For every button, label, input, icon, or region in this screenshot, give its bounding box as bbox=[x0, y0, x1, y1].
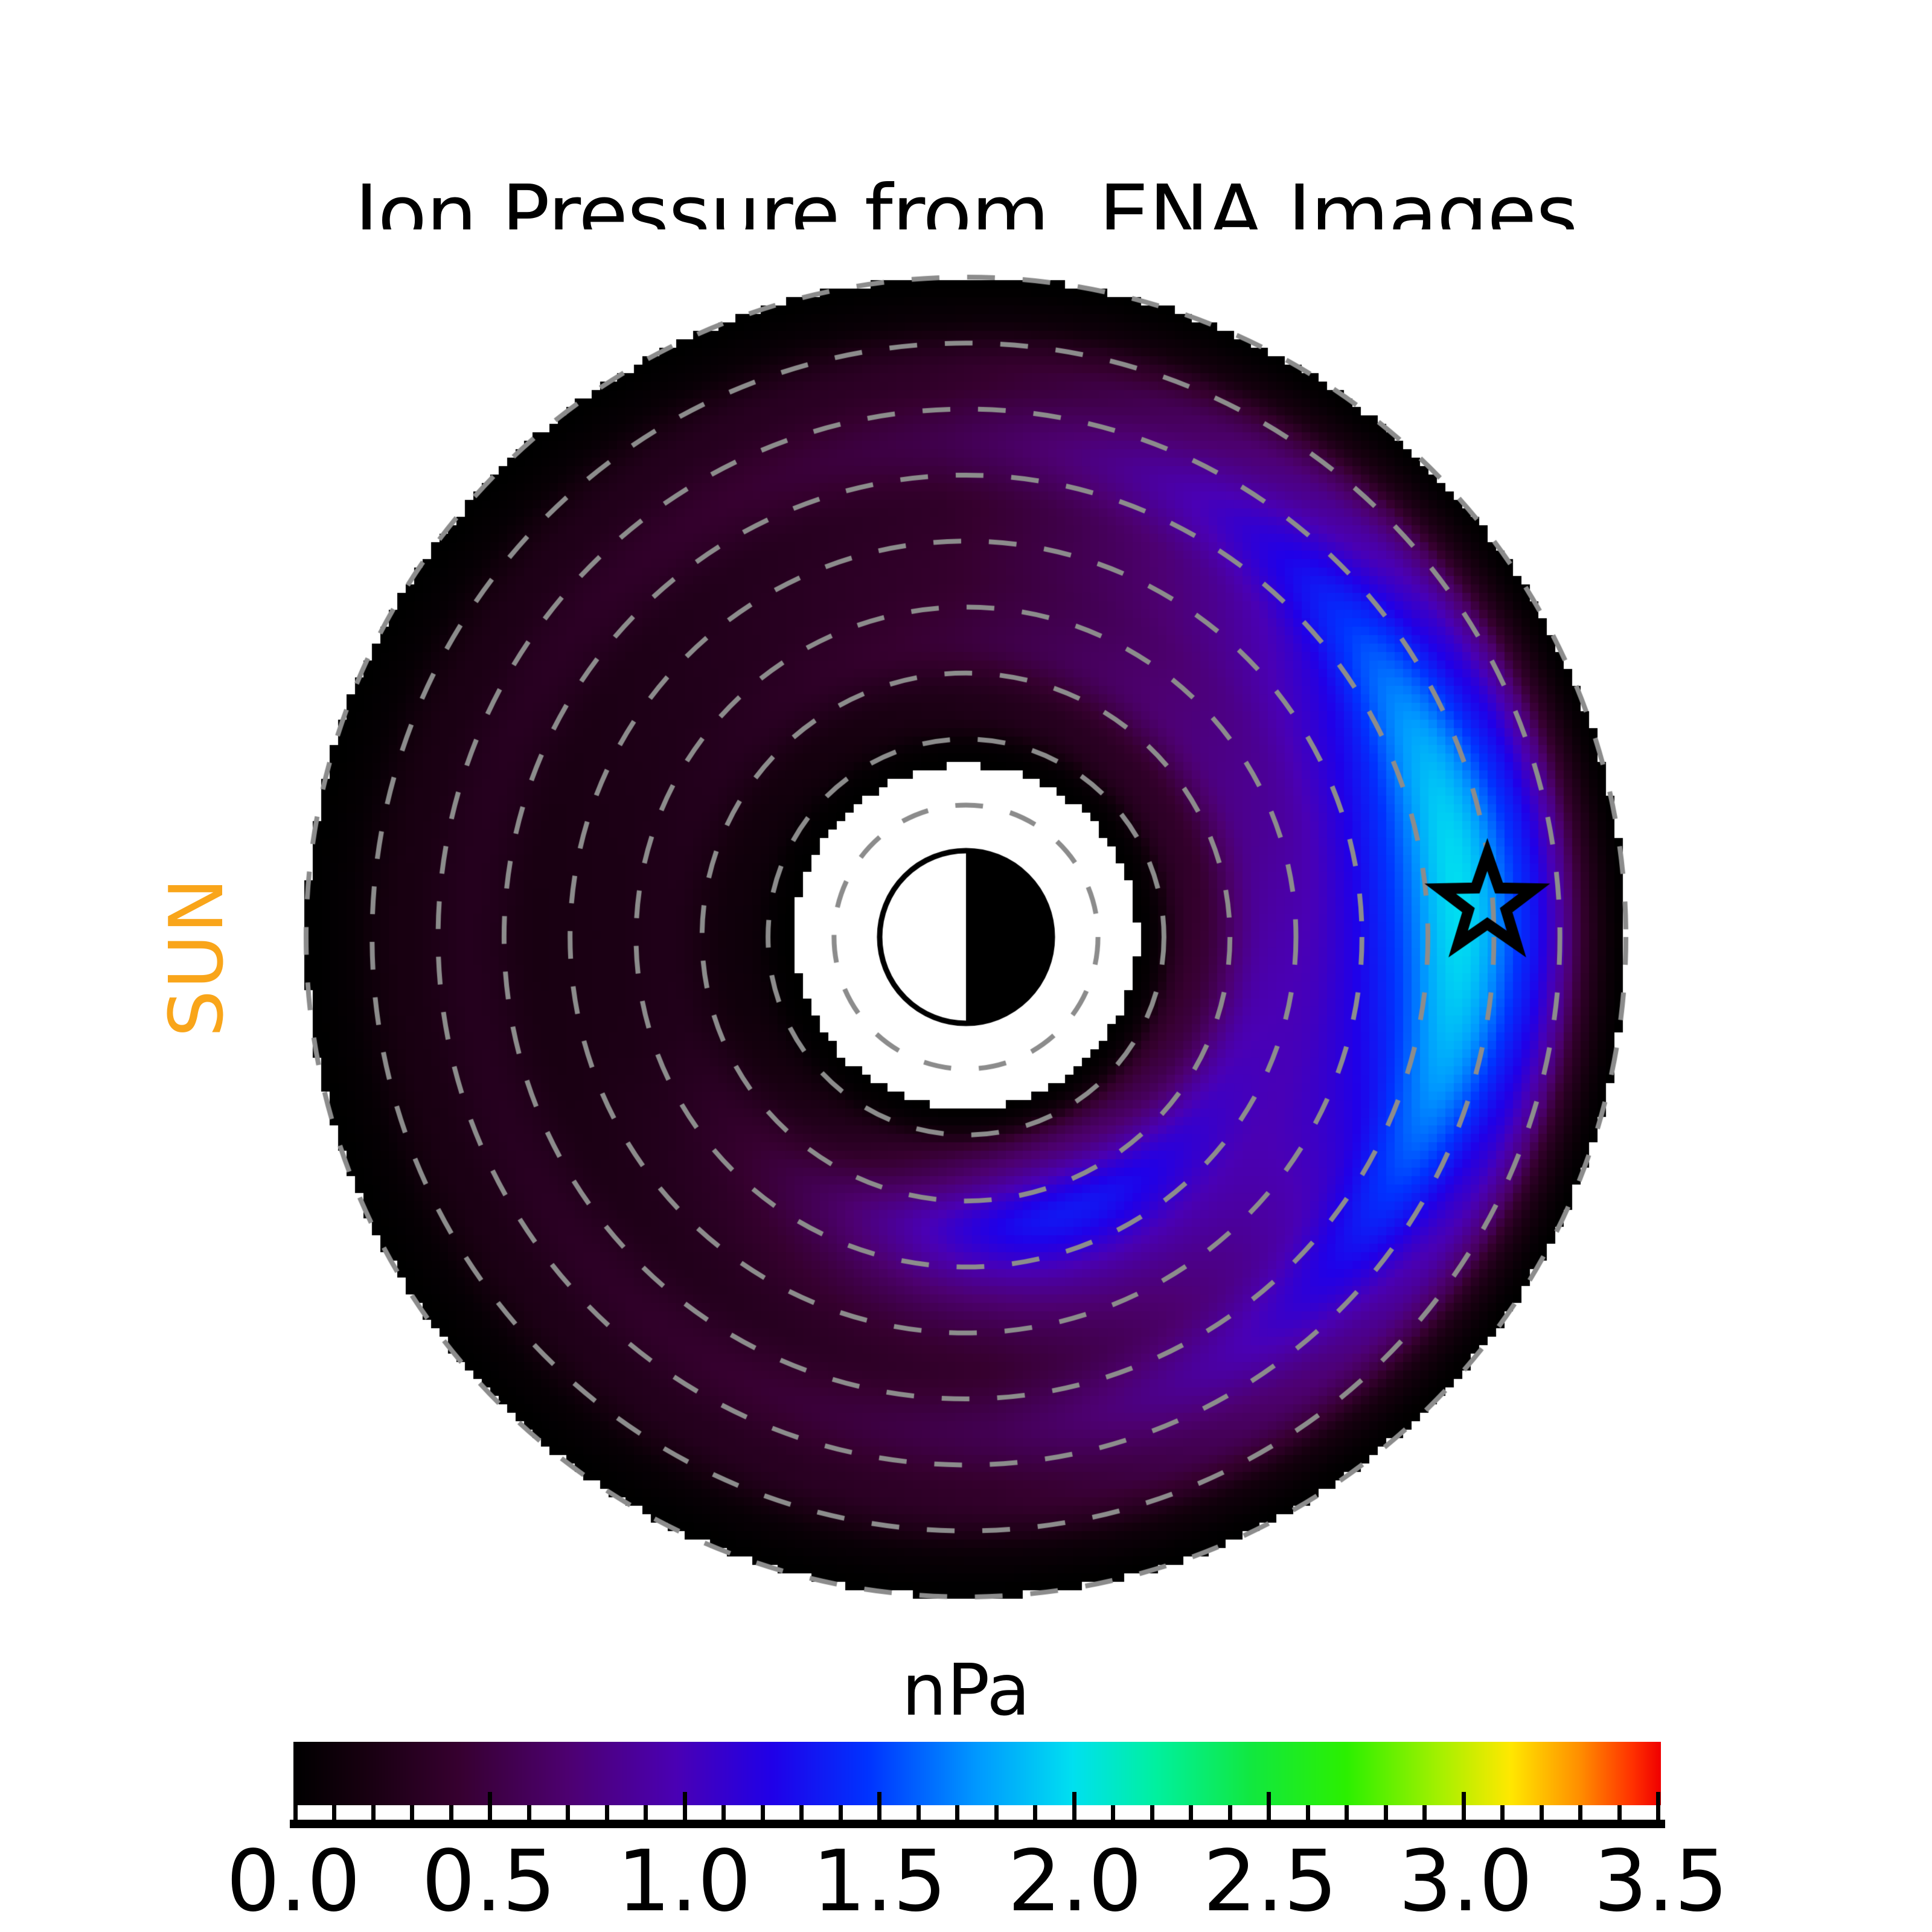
colorbar-ticks bbox=[293, 1792, 1661, 1823]
colorbar-axis-line bbox=[290, 1820, 1665, 1828]
colorbar-tick-label: 2.0 bbox=[1008, 1832, 1142, 1931]
colorbar-tick-label: 1.5 bbox=[812, 1832, 947, 1931]
colorbar-tick-label: 2.5 bbox=[1203, 1832, 1338, 1931]
colorbar-major-tick bbox=[293, 1792, 298, 1823]
polar-pressure-map bbox=[0, 229, 1932, 1648]
colorbar-major-tick bbox=[488, 1792, 492, 1823]
colorbar-tick-label: 0.5 bbox=[421, 1832, 556, 1931]
colorbar-major-tick bbox=[1072, 1792, 1076, 1823]
colorbar-major-tick bbox=[1462, 1792, 1466, 1823]
sun-direction-label: SUN bbox=[154, 836, 240, 1078]
colorbar-major-tick bbox=[1656, 1792, 1660, 1823]
pressure-heatmap-canvas bbox=[0, 229, 1932, 1648]
colorbar-major-tick bbox=[877, 1792, 881, 1823]
colorbar-tick-label: 3.0 bbox=[1398, 1832, 1533, 1931]
colorbar-unit-label: nPa bbox=[0, 1648, 1932, 1732]
colorbar-major-tick bbox=[683, 1792, 687, 1823]
colorbar-tick-label: 1.0 bbox=[617, 1832, 752, 1931]
colorbar-tick-labels: 0.00.51.01.52.02.53.03.5 bbox=[0, 1832, 1932, 1923]
colorbar-tick-label: 0.0 bbox=[226, 1832, 361, 1931]
figure-root: Ion Pressure from ENA Images 28Jun2013, … bbox=[0, 0, 1932, 1932]
colorbar-major-tick bbox=[1267, 1792, 1271, 1823]
colorbar-tick-label: 3.5 bbox=[1594, 1832, 1729, 1931]
